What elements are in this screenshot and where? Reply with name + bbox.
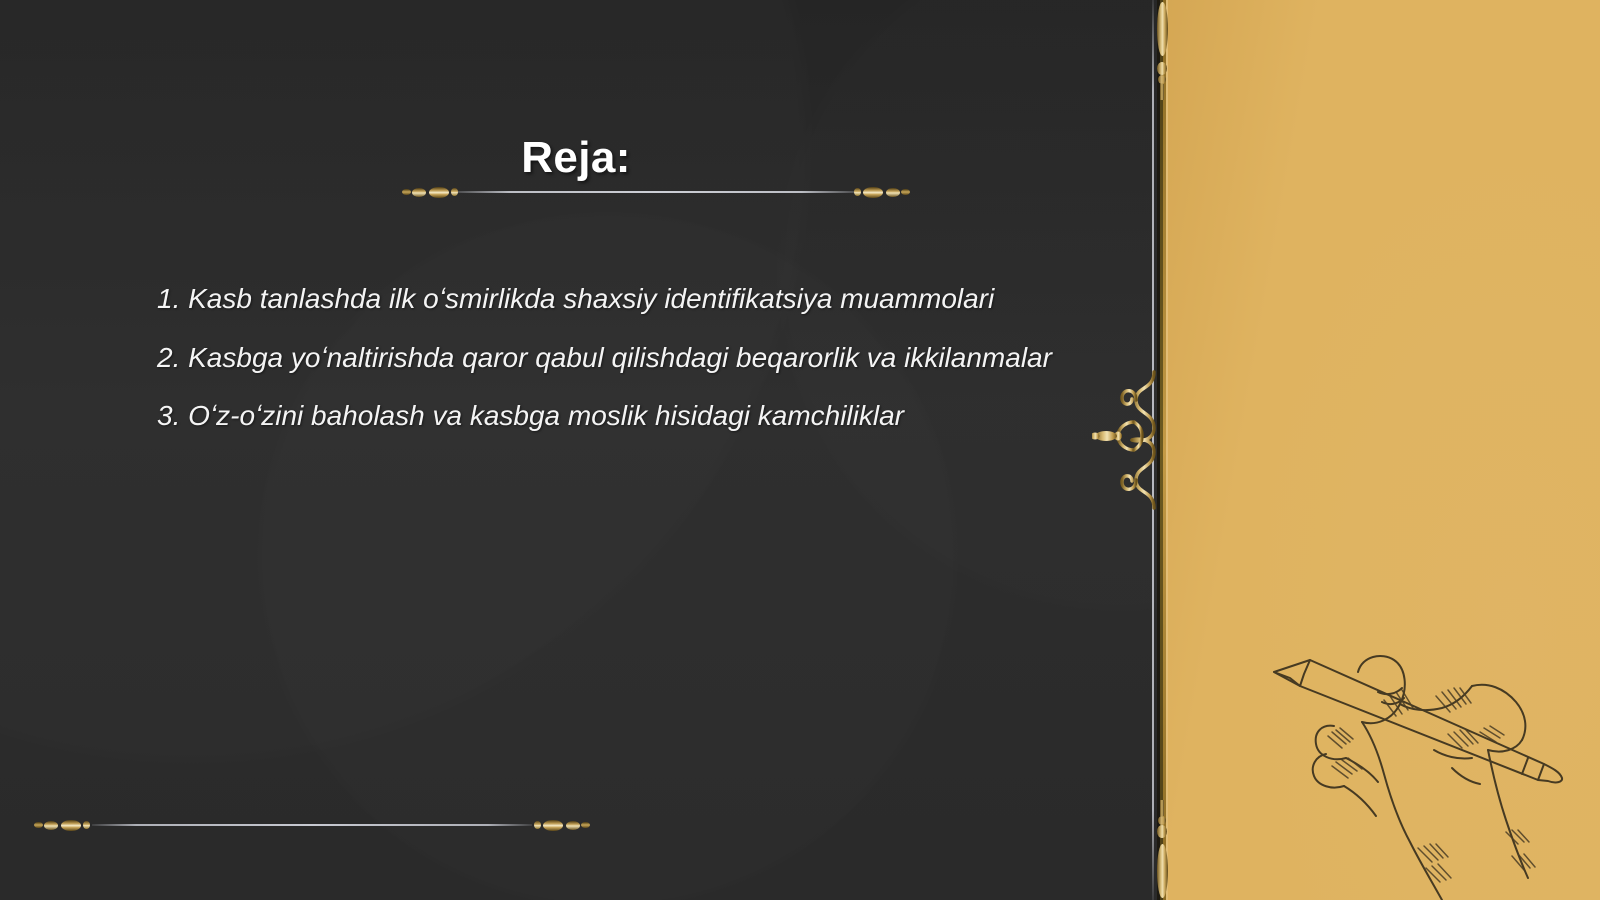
divider-line [454,191,858,193]
hand-holding-pencil-icon [1266,630,1596,900]
ornate-scroll-flourish-icon [1092,366,1172,514]
bottom-divider [52,818,572,832]
divider-bead-right-icon [854,185,910,199]
list-item: 2. Kasbga yoʻnaltirishda qaror qabul qil… [157,339,1057,378]
agenda-list: 1. Kasb tanlashda ilk oʻsmirlikda shaxsi… [157,280,1057,436]
gold-bead-finial-bottom-icon [1152,800,1172,898]
title-divider [420,185,892,199]
slide-title: Reja: [0,133,1152,183]
presentation-slide: Reja: 1. Kasb tanlashda ilk oʻsmirlikda … [0,0,1600,900]
list-item: 3. Oʻz-oʻzini baholash va kasbga moslik … [157,397,1057,436]
divider-bead-left-icon [34,818,90,832]
gold-bead-finial-top-icon [1152,2,1172,100]
divider-bead-right-icon [534,818,590,832]
list-item: 1. Kasb tanlashda ilk oʻsmirlikda shaxsi… [157,280,1057,319]
divider-bead-left-icon [402,185,458,199]
divider-line [92,824,532,826]
